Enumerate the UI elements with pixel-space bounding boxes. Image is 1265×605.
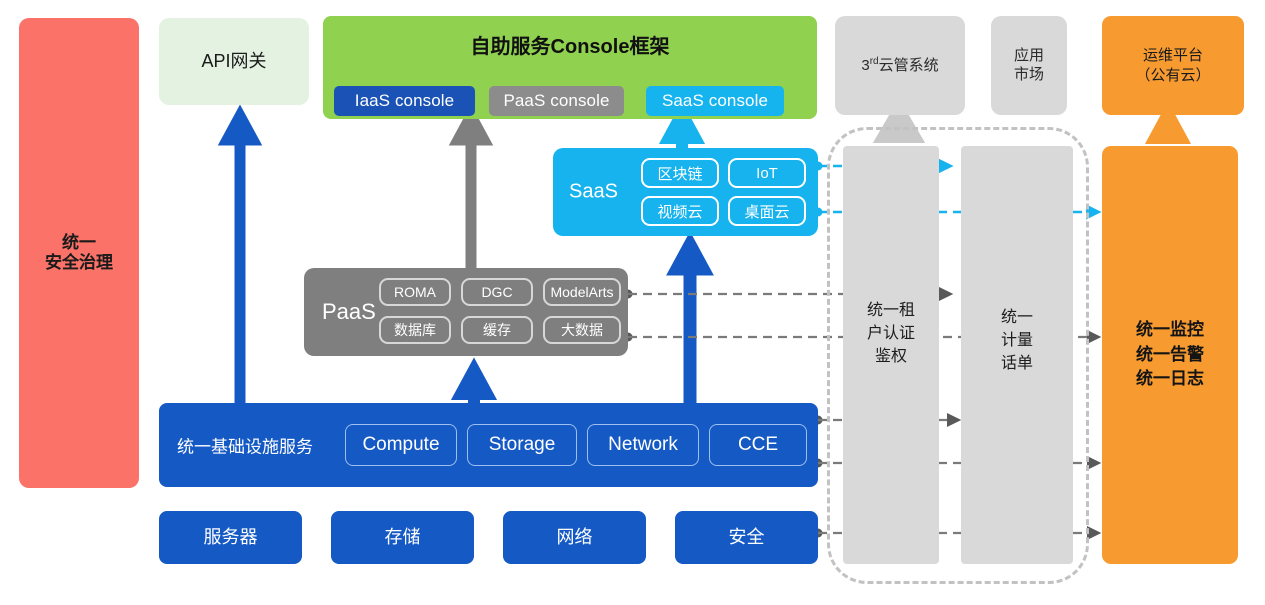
paas-item-dgc-label: DGC: [481, 284, 512, 300]
arrow-to-ops-platform: [1155, 114, 1181, 142]
paas-console-label: PaaS console: [503, 91, 609, 111]
third-party-superscript: rd: [870, 56, 879, 67]
api-gateway-box[interactable]: API网关: [159, 18, 309, 105]
iaas-console-label: IaaS console: [355, 91, 455, 111]
paas-console-button[interactable]: PaaS console: [489, 86, 624, 116]
saas-item-iot-label: IoT: [756, 165, 778, 182]
resource-card-network[interactable]: 网络: [503, 511, 646, 564]
metering-column-line1: 统一: [961, 308, 1073, 328]
ops-panel-line3: 统一日志: [1136, 367, 1204, 392]
paas-item-modelarts-label: ModelArts: [550, 284, 613, 300]
arrow-paas-to-console: [458, 116, 484, 268]
paas-item-modelarts[interactable]: ModelArts: [543, 278, 621, 306]
saas-block: SaaS 区块链 IoT 视频云 桌面云: [553, 148, 818, 236]
saas-item-blockchain[interactable]: 区块链: [641, 158, 719, 188]
paas-item-database[interactable]: 数据库: [379, 316, 451, 344]
third-party-prefix: 3: [861, 57, 869, 74]
third-party-cloud-mgmt-box[interactable]: 3rd云管系统: [835, 16, 965, 115]
arrow-infra-to-saas: [677, 245, 703, 405]
ops-platform-line1: 运维平台: [1143, 46, 1203, 66]
resource-card-network-label: 网络: [557, 527, 593, 549]
architecture-diagram: 统一 安全治理 API网关 自助服务Console框架 IaaS console…: [0, 0, 1265, 605]
console-framework: 自助服务Console框架 IaaS console PaaS console …: [323, 16, 817, 119]
saas-item-blockchain-label: 区块链: [657, 163, 702, 184]
infra-item-network[interactable]: Network: [587, 424, 699, 466]
app-market-box[interactable]: 应用 市场: [991, 16, 1067, 115]
third-party-suffix: 云管系统: [879, 57, 939, 74]
saas-item-desktop-cloud[interactable]: 桌面云: [728, 196, 806, 226]
app-market-line1: 应用: [1014, 47, 1044, 66]
metering-column-line2: 计量: [961, 331, 1073, 351]
paas-item-bigdata-label: 大数据: [561, 320, 603, 340]
unified-infrastructure-label: 统一基础设施服务: [177, 433, 313, 458]
auth-column-line3: 鉴权: [843, 347, 939, 367]
saas-console-button[interactable]: SaaS console: [646, 86, 784, 116]
paas-item-bigdata[interactable]: 大数据: [543, 316, 621, 344]
paas-item-roma[interactable]: ROMA: [379, 278, 451, 306]
auth-column-line1: 统一租: [843, 301, 939, 321]
saas-item-video-cloud[interactable]: 视频云: [641, 196, 719, 226]
infra-item-compute[interactable]: Compute: [345, 424, 457, 466]
auth-column[interactable]: 统一租 户认证 鉴权: [843, 146, 939, 564]
arrow-infra-to-paas: [461, 370, 487, 405]
paas-label: PaaS: [322, 299, 376, 325]
arrow-saas-to-console: [669, 114, 695, 150]
metering-column-line3: 话单: [961, 354, 1073, 374]
resource-card-server-label: 服务器: [204, 527, 258, 549]
saas-item-desktop-cloud-label: 桌面云: [744, 201, 789, 222]
saas-label: SaaS: [569, 181, 618, 204]
infra-item-cce-label: CCE: [738, 434, 778, 456]
resource-card-security-label: 安全: [729, 527, 765, 549]
infra-item-storage[interactable]: Storage: [467, 424, 577, 466]
paas-item-cache[interactable]: 缓存: [461, 316, 533, 344]
paas-item-dgc[interactable]: DGC: [461, 278, 533, 306]
ops-platform-public-cloud-box[interactable]: 运维平台 （公有云）: [1102, 16, 1244, 115]
security-governance-panel[interactable]: 统一 安全治理: [19, 18, 139, 488]
saas-console-label: SaaS console: [662, 91, 768, 111]
infra-item-cce[interactable]: CCE: [709, 424, 807, 466]
ops-monitoring-panel[interactable]: 统一监控 统一告警 统一日志: [1102, 146, 1238, 564]
console-framework-title: 自助服务Console框架: [323, 30, 817, 59]
paas-item-cache-label: 缓存: [483, 320, 511, 340]
resource-card-security[interactable]: 安全: [675, 511, 818, 564]
paas-block: PaaS ROMA DGC ModelArts 数据库 缓存 大数据: [304, 268, 628, 356]
resource-card-server[interactable]: 服务器: [159, 511, 302, 564]
resource-card-storage[interactable]: 存储: [331, 511, 474, 564]
saas-item-iot[interactable]: IoT: [728, 158, 806, 188]
unified-infrastructure-bar: 统一基础设施服务 Compute Storage Network CCE: [159, 403, 818, 487]
iaas-console-button[interactable]: IaaS console: [334, 86, 475, 116]
metering-column[interactable]: 统一 计量 话单: [961, 146, 1073, 564]
third-party-cloud-mgmt-label: 3rd云管系统: [861, 56, 938, 76]
paas-item-database-label: 数据库: [394, 320, 436, 340]
infra-item-network-label: Network: [608, 434, 678, 456]
infra-item-compute-label: Compute: [362, 434, 439, 456]
arrow-infra-to-api-gateway: [227, 116, 253, 405]
ops-panel-line2: 统一告警: [1136, 343, 1204, 368]
infra-item-storage-label: Storage: [489, 434, 556, 456]
ops-platform-line2: （公有云）: [1135, 66, 1210, 86]
security-governance-line2: 安全治理: [45, 253, 113, 273]
saas-item-video-cloud-label: 视频云: [657, 201, 702, 222]
security-governance-line1: 统一: [62, 233, 96, 253]
resource-card-storage-label: 存储: [385, 527, 421, 549]
paas-item-roma-label: ROMA: [394, 284, 436, 300]
ops-panel-line1: 统一监控: [1136, 318, 1204, 343]
auth-column-line2: 户认证: [843, 324, 939, 344]
app-market-line2: 市场: [1014, 66, 1044, 85]
api-gateway-label: API网关: [201, 51, 266, 73]
